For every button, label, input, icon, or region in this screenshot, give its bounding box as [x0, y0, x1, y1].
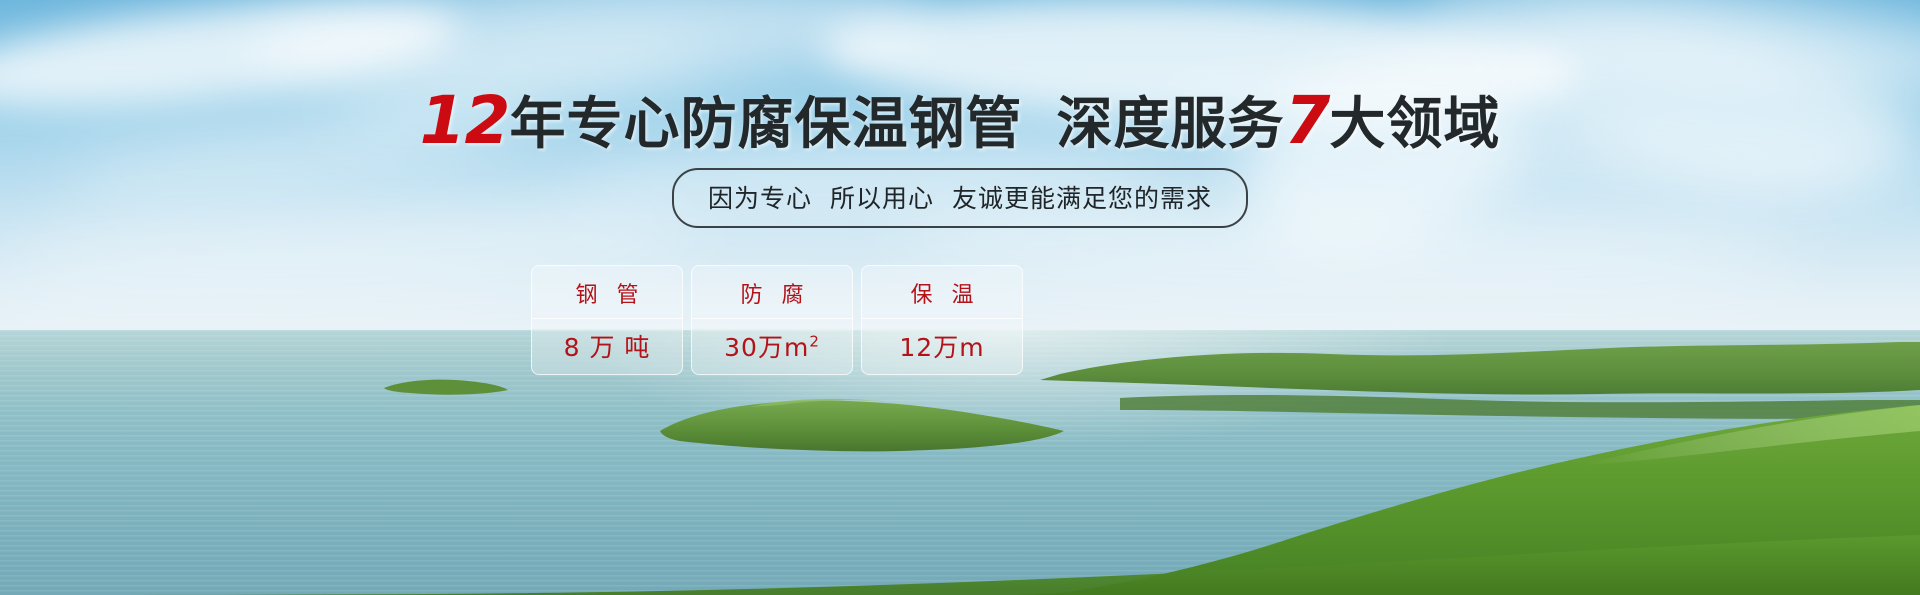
subtitle-segment-two: 所以用心	[830, 184, 934, 213]
headline-part-two: 深度服务	[1056, 92, 1284, 157]
stat-card-divider	[862, 318, 1022, 319]
subtitle-segment-one: 因为专心	[708, 184, 812, 213]
stat-card-value: 12万m	[899, 328, 984, 364]
headline: 12年专心防腐保温钢管深度服务7大领域	[0, 88, 1920, 154]
subtitle-pill: 因为专心所以用心友诚更能满足您的需求	[672, 168, 1248, 228]
stat-value-text: 8 万 吨	[564, 333, 651, 362]
headline-number-fields: 7	[1284, 82, 1329, 159]
stat-card-label: 防 腐	[735, 277, 810, 309]
text-overlay: 12年专心防腐保温钢管深度服务7大领域 因为专心所以用心友诚更能满足您的需求 钢…	[0, 0, 1920, 595]
stat-card-group: 钢 管 8 万 吨 防 腐 30万m2 保 温 12万m	[531, 265, 1023, 375]
promo-banner: 12年专心防腐保温钢管深度服务7大领域 因为专心所以用心友诚更能满足您的需求 钢…	[0, 0, 1920, 595]
headline-number-years: 12	[420, 82, 510, 159]
headline-part-three: 大领域	[1329, 92, 1500, 157]
stat-value-text: 12万m	[899, 333, 984, 362]
stat-card-label: 钢 管	[570, 277, 645, 309]
subtitle-segment-three: 友诚更能满足您的需求	[952, 184, 1212, 213]
headline-part-one: 年专心防腐保温钢管	[509, 92, 1022, 157]
stat-card-steel-pipe: 钢 管 8 万 吨	[531, 265, 683, 375]
stat-card-divider	[692, 318, 852, 319]
stat-card-insulation: 保 温 12万m	[861, 265, 1023, 375]
stat-card-label: 保 温	[905, 277, 980, 309]
stat-card-divider	[532, 318, 682, 319]
stat-value-exponent: 2	[809, 332, 820, 350]
subtitle-container: 因为专心所以用心友诚更能满足您的需求	[0, 168, 1920, 228]
stat-card-value: 30万m2	[724, 328, 820, 364]
stat-card-value: 8 万 吨	[564, 328, 651, 364]
stat-card-anticorrosion: 防 腐 30万m2	[691, 265, 853, 375]
stat-value-text: 30万m	[724, 333, 809, 362]
